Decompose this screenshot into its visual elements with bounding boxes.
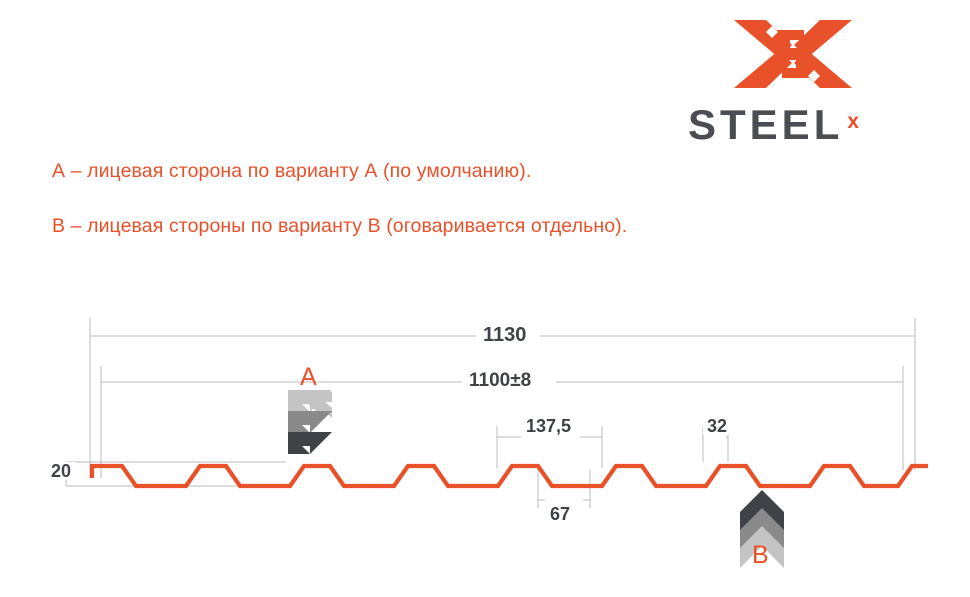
dimension-label-working-width: 1100±8: [462, 371, 538, 390]
dimension-label-crest-width: 32: [703, 417, 731, 435]
dimension-label-wave-pitch: 137,5: [521, 417, 576, 435]
dimension-label-profile-height: 20: [47, 462, 75, 480]
marker-b-chevron-overlay: [0, 0, 970, 597]
marker-b-label: В: [752, 543, 769, 568]
dimension-label-overall-width: 1130: [476, 325, 533, 345]
marker-a-label: А: [300, 365, 317, 390]
dimension-label-trough-width: 67: [545, 505, 575, 523]
drawing-page: STEEL x А – лицевая сторона по варианту …: [0, 0, 970, 597]
